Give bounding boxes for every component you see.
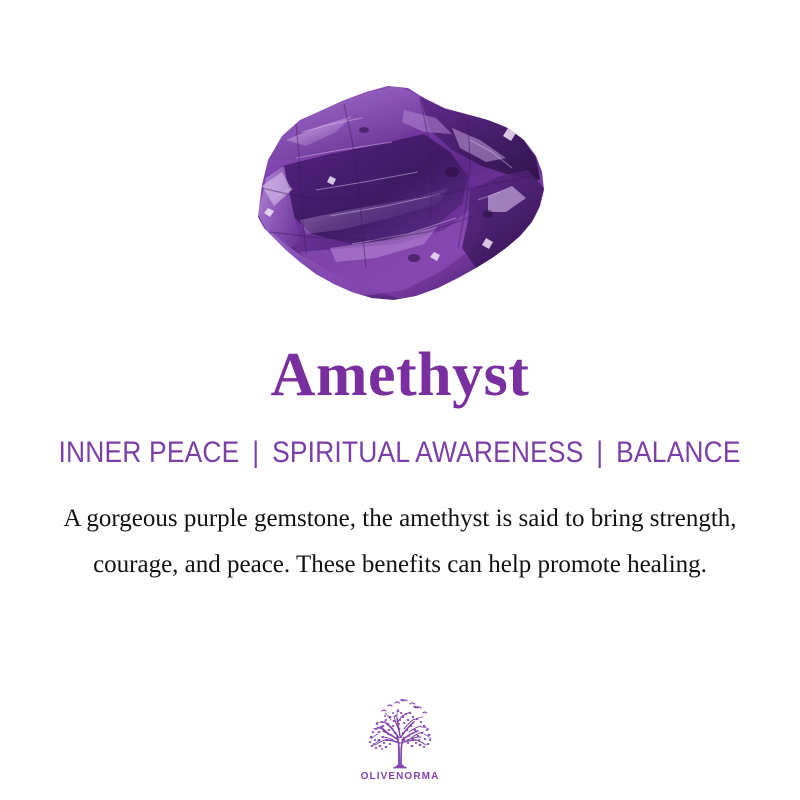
keyword-spiritual-awareness: SPIRITUAL AWARENESS <box>272 436 583 470</box>
keyword-separator: | <box>247 436 265 470</box>
keywords-line: INNER PEACE | SPIRITUAL AWARENESS | BALA… <box>59 406 741 470</box>
keyword-separator: | <box>591 436 609 470</box>
tree-with-birds-icon <box>357 696 443 770</box>
page-title: Amethyst <box>271 320 530 406</box>
keyword-inner-peace: INNER PEACE <box>59 436 240 470</box>
amethyst-info-card: Amethyst INNER PEACE | SPIRITUAL AWARENE… <box>0 0 800 800</box>
keyword-balance: BALANCE <box>617 436 741 470</box>
brand-logo: OLIVENORMA <box>345 696 455 782</box>
amethyst-crystal-illustration <box>0 0 800 320</box>
description-text: A gorgeous purple gemstone, the amethyst… <box>50 470 750 589</box>
brand-wordmark: OLIVENORMA <box>361 771 440 782</box>
gemstone-image <box>0 0 800 320</box>
